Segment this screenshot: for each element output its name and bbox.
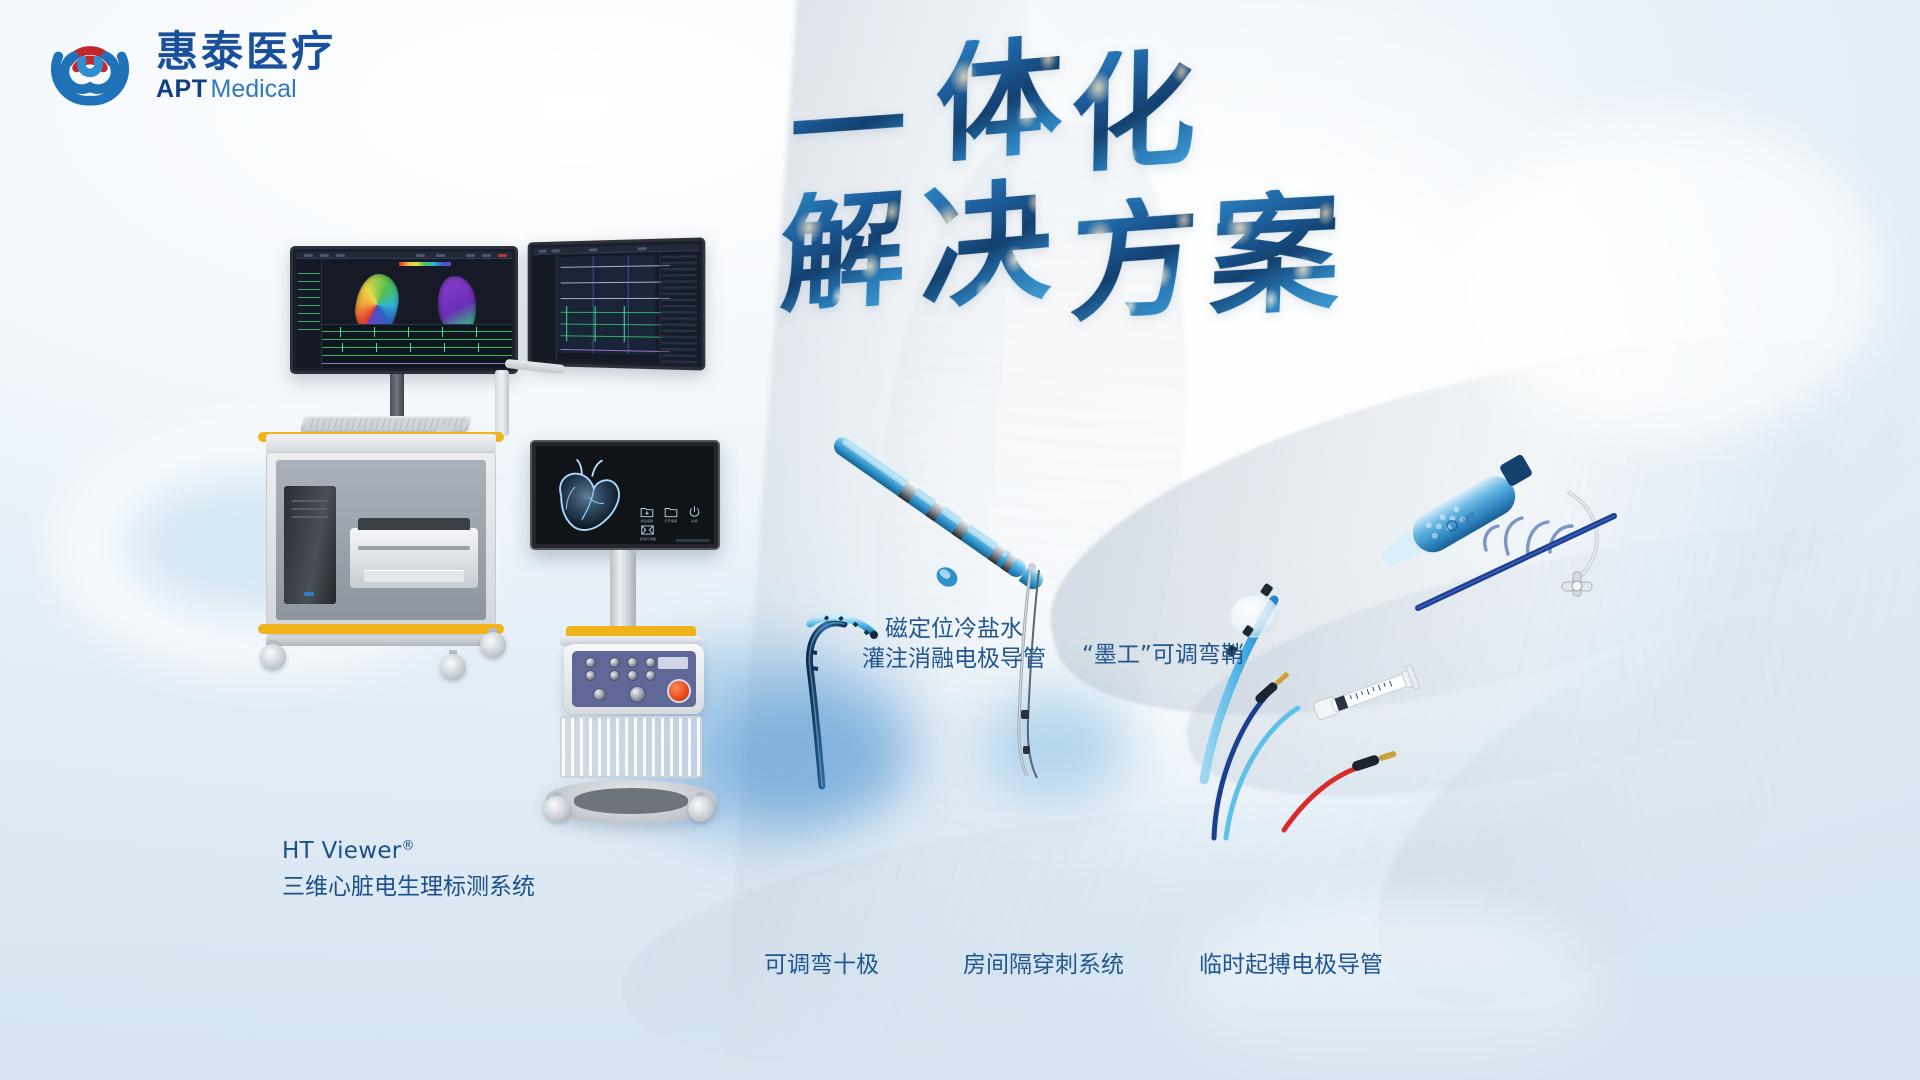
mapping-monitor: [290, 246, 518, 374]
new-case-icon[interactable]: 新建病例: [640, 506, 654, 523]
caster-wheel: [688, 792, 714, 822]
temporary-pacing-catheter: [1200, 560, 1480, 820]
brand-name-medical: Medical: [211, 77, 297, 102]
label-line-2: 灌注消融电极导管: [862, 644, 1046, 674]
cart-handle-rail-bottom: [258, 624, 504, 634]
mapping-label: 标测与消融: [640, 537, 656, 541]
headline-calligraphy: 一 体 化 解 决 方 案: [770, 30, 1580, 330]
cart-base-beam: [266, 636, 496, 646]
power-label: 关机: [688, 519, 701, 523]
label-line-1: 磁定位冷盐水: [862, 614, 1046, 644]
display-stand-column: [610, 550, 636, 628]
brand-logo[interactable]: 惠泰医疗 APT Medical: [42, 18, 336, 114]
label-steerable-sheath: “墨工”可调弯鞘: [1082, 640, 1244, 670]
headline-char-3: 化: [1069, 45, 1197, 180]
heart-anatomy-icon: [544, 456, 630, 542]
label-line-1: “墨工”可调弯鞘: [1082, 640, 1244, 670]
console-port[interactable]: [628, 658, 637, 667]
console-port[interactable]: [646, 671, 655, 680]
display-brand-strip: [676, 539, 710, 542]
brand-name-en: APT Medical: [156, 77, 336, 102]
tower-power-led: [304, 592, 314, 596]
recording-channel-panel: [533, 254, 557, 360]
console-faceplate: [572, 651, 696, 707]
mapping-monitor-screen: [296, 252, 512, 368]
workstation-name-en: HT Viewer: [282, 838, 402, 864]
console-port[interactable]: [586, 658, 595, 667]
printer-paper-slot: [358, 546, 470, 550]
label-line-1: 可调弯十极: [764, 950, 879, 980]
caster-wheel: [544, 792, 570, 822]
console-port[interactable]: [610, 671, 619, 680]
label-temporary-pacing-catheter: 临时起搏电极导管: [1199, 950, 1383, 980]
label-transseptal-puncture-system: 房间隔穿刺系统: [963, 950, 1124, 980]
console-port[interactable]: [586, 671, 595, 680]
recording-monitor: [528, 237, 706, 370]
mapping-channel-panel: [296, 259, 322, 368]
printer-output-tray: [364, 570, 464, 582]
printer-lid: [358, 518, 470, 530]
monitor-stand: [390, 374, 404, 420]
printer: [350, 528, 478, 588]
monitor-arm-post: [495, 370, 509, 436]
open-case-icon[interactable]: 打开病例: [664, 506, 678, 523]
console-badge: [658, 657, 688, 669]
console-port[interactable]: [628, 671, 637, 680]
console-port[interactable]: [646, 658, 655, 667]
label-line-1: 临时起搏电极导管: [1199, 950, 1383, 980]
computer-tower: [284, 486, 336, 604]
stopcock-icon: [1562, 572, 1592, 596]
label-irrigated-ablation-catheter: 磁定位冷盐水 灌注消融电极导管: [862, 614, 1046, 675]
brand-name-cn: 惠泰医疗: [156, 30, 336, 74]
caster-wheel: [480, 628, 506, 658]
emergency-stop-button[interactable]: [669, 681, 689, 701]
connector-console[interactable]: [564, 644, 704, 714]
display-cart-base-hub: [574, 788, 688, 814]
trademark-symbol: ®: [402, 838, 415, 853]
workstation-name-cn: 三维心脏电生理标测系统: [282, 872, 535, 902]
heart-display-monitor: 新建病例 打开病例 关机 标测与消融: [530, 440, 720, 550]
new-case-label: 新建病例: [640, 519, 654, 523]
headline-char-1: 一: [789, 68, 907, 193]
recording-monitor-screen: [533, 244, 699, 364]
caster-wheel: [440, 650, 466, 680]
cart-worktop: [266, 434, 496, 454]
mapping-color-scale: [399, 262, 451, 266]
brand-name-apt: APT: [156, 77, 208, 102]
headline-char-2: 体: [934, 32, 1064, 172]
caster-wheel: [260, 640, 286, 670]
headline-char-5: 决: [920, 174, 1051, 318]
console-ground-port[interactable]: [594, 689, 605, 700]
mapping-monitor-toolbar: [296, 252, 512, 259]
syringe-icon: [1312, 664, 1420, 724]
label-decapolar-catheter: 可调弯十极: [764, 950, 879, 980]
open-case-label: 打开病例: [664, 519, 678, 523]
display-cart: 新建病例 打开病例 关机 标测与消融: [530, 440, 750, 860]
recording-trace-area: [557, 255, 656, 355]
recording-measurement-table: [660, 253, 697, 362]
headline-char-7: 案: [1208, 186, 1342, 323]
label-line-1: 房间隔穿刺系统: [963, 950, 1124, 980]
headline-char-4: 解: [778, 185, 908, 320]
heart-display-screen: 新建病例 打开病例 关机 标测与消融: [536, 446, 714, 544]
workstation-label: HT Viewer® 三维心脏电生理标测系统: [282, 836, 535, 903]
power-icon[interactable]: 关机: [688, 505, 701, 523]
headline-char-6: 方: [1068, 193, 1200, 331]
banner-canvas: 惠泰医疗 APT Medical 一 体 化 解 决 方 案: [0, 0, 1920, 1080]
console-port[interactable]: [610, 658, 619, 667]
apt-medical-heart-logo-icon: [42, 18, 138, 114]
mapping-icon[interactable]: 标测与消融: [640, 524, 656, 541]
brand-wordmark: 惠泰医疗 APT Medical: [156, 30, 336, 101]
bottom-fade: [0, 900, 1920, 1080]
mapping-egm-waveforms: [322, 324, 512, 368]
cart-storage-basket: [560, 716, 702, 778]
console-main-port[interactable]: [630, 687, 645, 702]
